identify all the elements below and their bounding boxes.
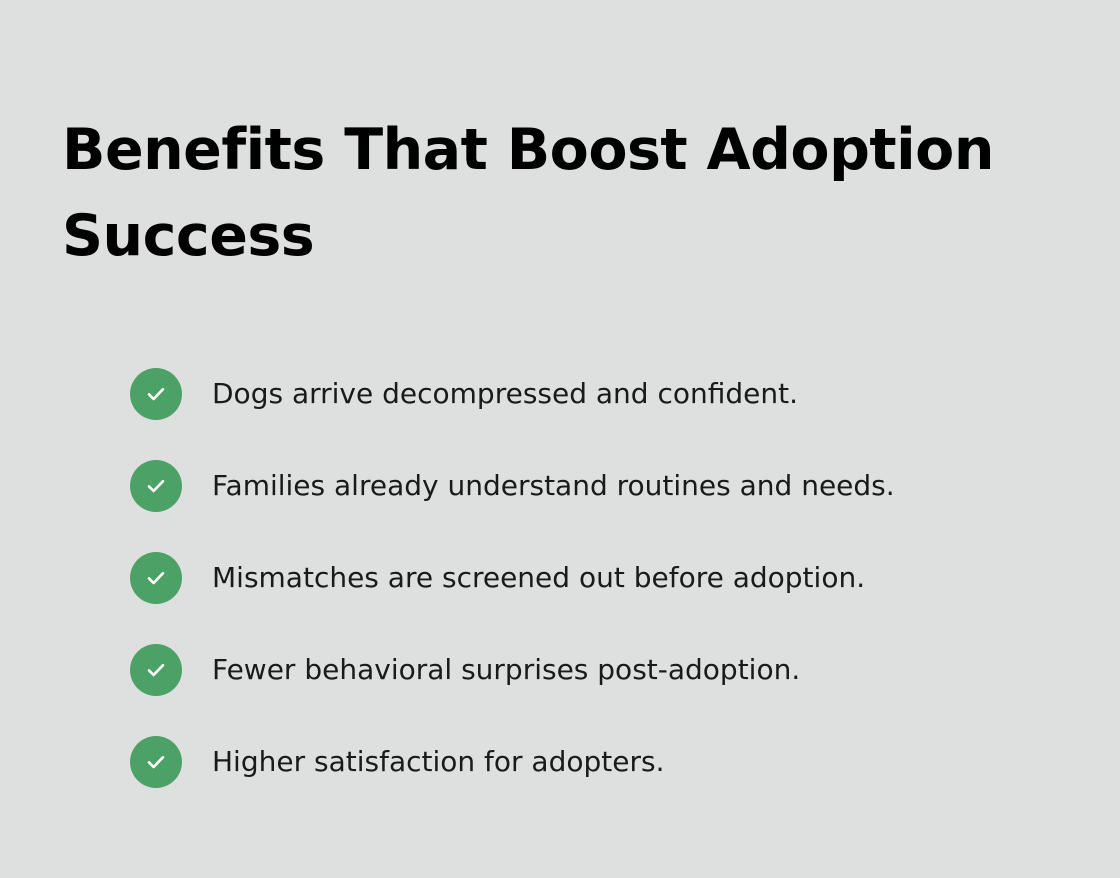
check-circle-icon xyxy=(130,368,182,420)
check-circle-icon xyxy=(130,736,182,788)
list-item: Fewer behavioral surprises post-adoption… xyxy=(130,644,1030,696)
slide-canvas: Benefits That Boost Adoption Success Dog… xyxy=(0,0,1120,878)
list-item-label: Families already understand routines and… xyxy=(212,469,895,503)
page-title: Benefits That Boost Adoption Success xyxy=(62,107,1022,279)
list-item: Mismatches are screened out before adopt… xyxy=(130,552,1030,604)
check-circle-icon xyxy=(130,552,182,604)
check-circle-icon xyxy=(130,460,182,512)
benefits-list: Dogs arrive decompressed and confident. … xyxy=(130,368,1030,788)
check-circle-icon xyxy=(130,644,182,696)
list-item: Families already understand routines and… xyxy=(130,460,1030,512)
list-item-label: Dogs arrive decompressed and confident. xyxy=(212,377,798,411)
list-item-label: Higher satisfaction for adopters. xyxy=(212,745,664,779)
list-item: Higher satisfaction for adopters. xyxy=(130,736,1030,788)
list-item-label: Mismatches are screened out before adopt… xyxy=(212,561,865,595)
list-item: Dogs arrive decompressed and confident. xyxy=(130,368,1030,420)
list-item-label: Fewer behavioral surprises post-adoption… xyxy=(212,653,800,687)
